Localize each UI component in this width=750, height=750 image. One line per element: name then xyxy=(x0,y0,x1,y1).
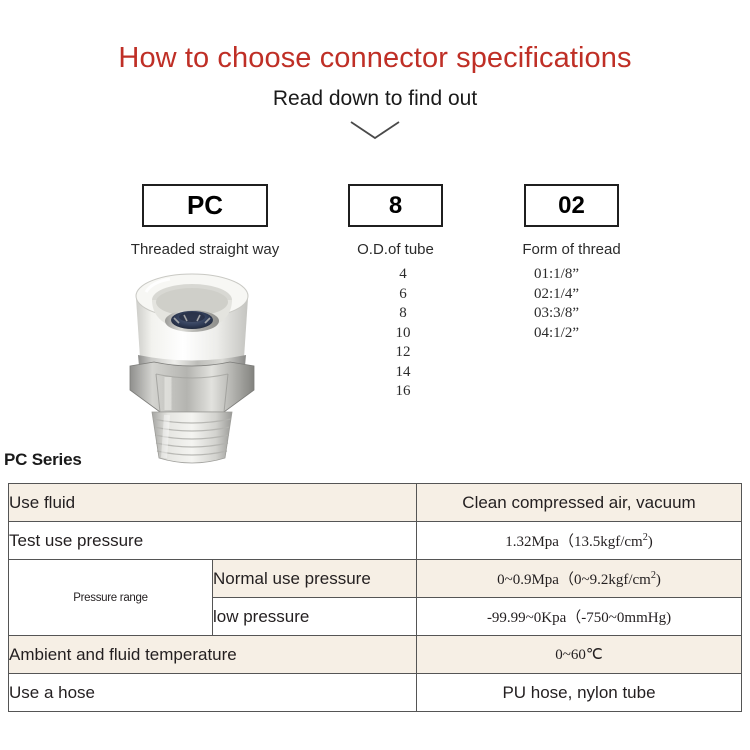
code-box-thread-form[interactable]: 02 xyxy=(524,184,619,227)
spec-group-pressure-range: Pressure range xyxy=(9,560,213,636)
thread-form-option-list: 01:1/8” 02:1/4” 03:3/8” 04:1/2” xyxy=(534,265,644,343)
product-photo-pneumatic-fitting xyxy=(112,262,272,470)
spec-value-normal-use-pressure: 0~0.9Mpa（0~9.2kgf/cm2) xyxy=(417,560,742,598)
code-label-thread-form: Form of thread xyxy=(511,241,632,258)
spec-value-use-a-hose: PU hose, nylon tube xyxy=(417,674,742,712)
table-row: Use a hose PU hose, nylon tube xyxy=(9,674,742,712)
code-box-series[interactable]: PC xyxy=(142,184,268,227)
list-item: 02:1/4” xyxy=(534,285,644,305)
code-label-tube-od: O.D.of tube xyxy=(335,241,456,258)
list-item: 14 xyxy=(390,363,416,383)
spec-value-low-pressure: -99.99~0Kpa（-750~0mmHg) xyxy=(417,598,742,636)
series-caption: PC Series xyxy=(4,450,82,470)
code-box-tube-od[interactable]: 8 xyxy=(348,184,443,227)
spec-value-test-use-pressure: 1.32Mpa（13.5kgf/cm2) xyxy=(417,522,742,560)
table-row: Use fluid Clean compressed air, vacuum xyxy=(9,484,742,522)
spec-label-use-fluid: Use fluid xyxy=(9,484,417,522)
code-label-series: Threaded straight way xyxy=(122,241,288,258)
table-row: Test use pressure 1.32Mpa（13.5kgf/cm2) xyxy=(9,522,742,560)
tube-od-option-list: 4 6 8 10 12 14 16 xyxy=(390,265,450,402)
list-item: 16 xyxy=(390,382,416,402)
list-item: 4 xyxy=(390,265,416,285)
chevron-down-icon xyxy=(345,118,405,142)
spec-value-ambient-temperature: 0~60℃ xyxy=(417,636,742,674)
table-row: Pressure range Normal use pressure 0~0.9… xyxy=(9,560,742,598)
page-subtitle: Read down to find out xyxy=(0,87,750,111)
spec-label-low-pressure: low pressure xyxy=(213,598,417,636)
specification-table: Use fluid Clean compressed air, vacuum T… xyxy=(8,483,742,712)
list-item: 8 xyxy=(390,304,416,324)
spec-label-ambient-temperature: Ambient and fluid temperature xyxy=(9,636,417,674)
spec-label-test-use-pressure: Test use pressure xyxy=(9,522,417,560)
list-item: 10 xyxy=(390,324,416,344)
list-item: 6 xyxy=(390,285,416,305)
list-item: 04:1/2” xyxy=(534,324,644,344)
table-row: Ambient and fluid temperature 0~60℃ xyxy=(9,636,742,674)
spec-value-use-fluid: Clean compressed air, vacuum xyxy=(417,484,742,522)
list-item: 01:1/8” xyxy=(534,265,644,285)
spec-label-normal-use-pressure: Normal use pressure xyxy=(213,560,417,598)
list-item: 12 xyxy=(390,343,416,363)
page-title: How to choose connector specifications xyxy=(0,42,750,75)
spec-label-use-a-hose: Use a hose xyxy=(9,674,417,712)
list-item: 03:3/8” xyxy=(534,304,644,324)
